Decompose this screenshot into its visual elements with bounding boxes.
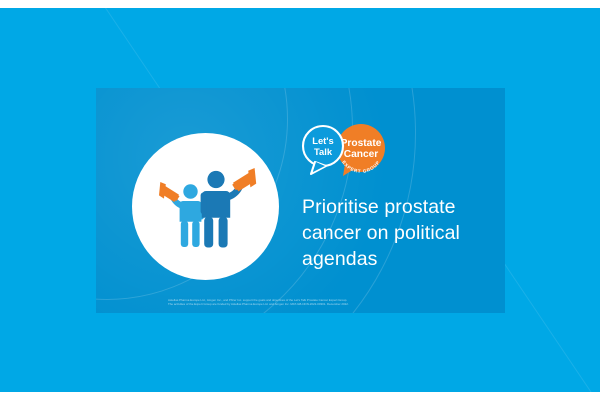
logo-prostate-text: Prostate [341, 138, 382, 149]
logo-talk-text: Talk [314, 146, 333, 157]
disclaimer: Astellas Pharma Europe Ltd., Amgen Inc.,… [168, 298, 498, 307]
lets-talk-prostate-cancer-logo: EXPERT GROUP Prostate Cancer Let's Talk [299, 122, 397, 180]
megaphone-small-icon [159, 182, 180, 202]
disclaimer-line-2: The activities of the Expert Group are f… [168, 302, 498, 306]
two-people-with-megaphones-icon [154, 155, 258, 259]
logo-cancer-text: Cancer [344, 149, 379, 160]
megaphone-large-icon [232, 168, 256, 191]
slide-canvas: EXPERT GROUP Prostate Cancer Let's Talk [0, 0, 600, 400]
content-panel: EXPERT GROUP Prostate Cancer Let's Talk [96, 88, 505, 313]
logo-lets-text: Let's [312, 135, 334, 146]
headline: Prioritise prostate cancer on political … [302, 194, 502, 272]
logo-svg: EXPERT GROUP Prostate Cancer Let's Talk [299, 122, 397, 180]
icon-circle [132, 133, 279, 280]
slide-background: EXPERT GROUP Prostate Cancer Let's Talk [0, 8, 600, 392]
decorative-sheen-line-right [500, 257, 600, 392]
